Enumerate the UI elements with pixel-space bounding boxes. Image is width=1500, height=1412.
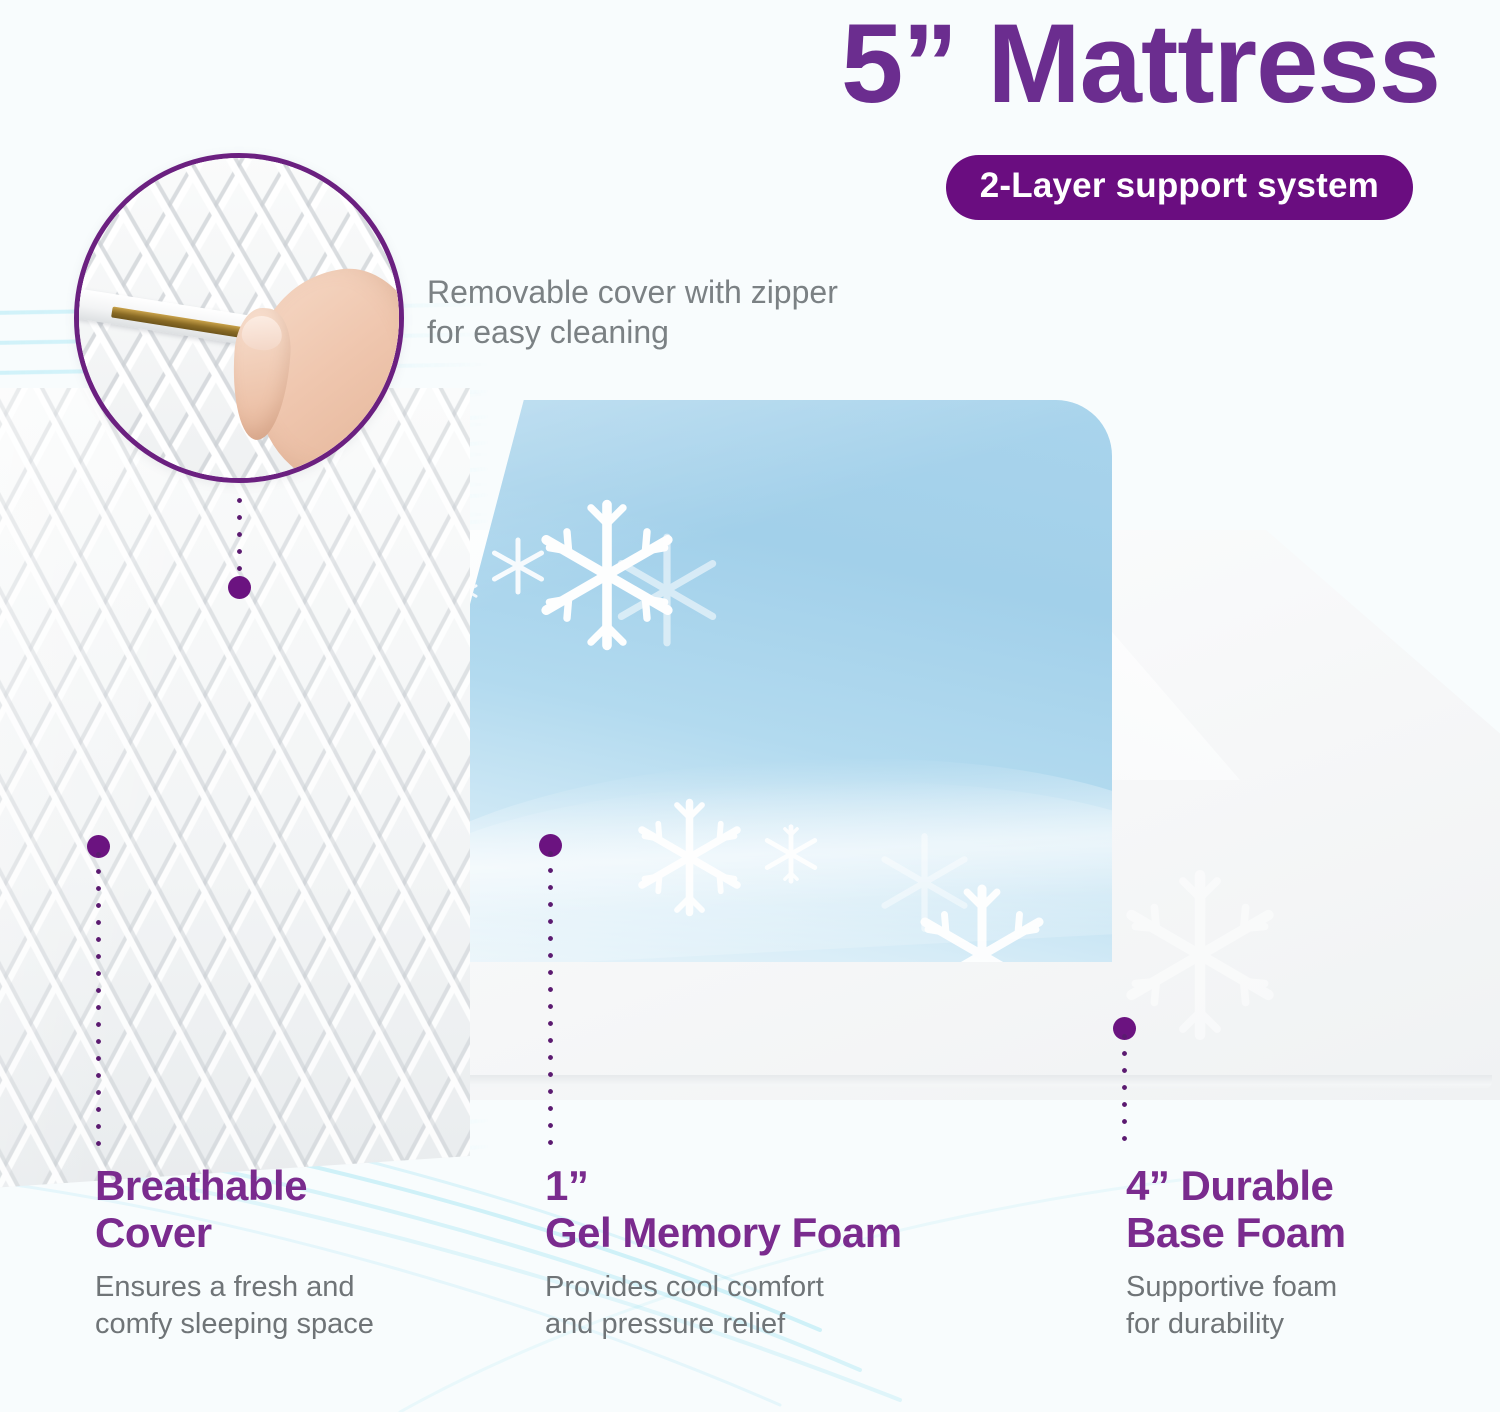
feature-heading: 4” Durable Base Foam [1126, 1162, 1496, 1257]
leader-dots [237, 492, 242, 588]
feature-heading: 1” Gel Memory Foam [545, 1162, 1015, 1257]
feature-breathable-cover: Breathable Cover Ensures a fresh and com… [95, 1162, 495, 1343]
snowflake-icon-lower-right-b [872, 830, 977, 935]
feature-heading: Breathable Cover [95, 1162, 495, 1257]
feature-description: Ensures a fresh and comfy sleeping space [95, 1269, 495, 1343]
snowflake-icon-mid-large [627, 795, 752, 920]
feature-description: Provides cool comfort and pressure relie… [545, 1269, 1015, 1343]
feature-description: Supportive foam for durability [1126, 1269, 1496, 1343]
layer-gel-memory-foam [432, 400, 1112, 962]
mattress-base-shadow [440, 1075, 1492, 1089]
feature-durable-base-foam: 4” Durable Base Foam Supportive foam for… [1126, 1162, 1496, 1343]
page-title: 5” Mattress [0, 8, 1440, 120]
snowflake-icon-mid-small [757, 820, 825, 888]
leader-line-inset [234, 492, 245, 588]
subtitle-badge: 2-Layer support system [946, 155, 1413, 220]
feature-list: Breathable Cover Ensures a fresh and com… [0, 1162, 1500, 1392]
leader-dots [548, 845, 553, 1145]
feature-gel-memory-foam: 1” Gel Memory Foam Provides cool comfort… [545, 1162, 1015, 1343]
leader-line-gel [545, 845, 556, 1145]
leader-dots [1122, 1028, 1127, 1146]
leader-endpoint-dot [228, 576, 251, 599]
zipper-closeup-inset [74, 153, 404, 483]
leader-line-base [1119, 1028, 1130, 1146]
snowflake-icon-small [487, 535, 549, 597]
zipper-annotation-text: Removable cover with zipper for easy cle… [427, 272, 947, 352]
leader-dots [96, 846, 101, 1146]
leader-line-cover [93, 846, 104, 1146]
snowflake-icon-medium [607, 530, 727, 650]
